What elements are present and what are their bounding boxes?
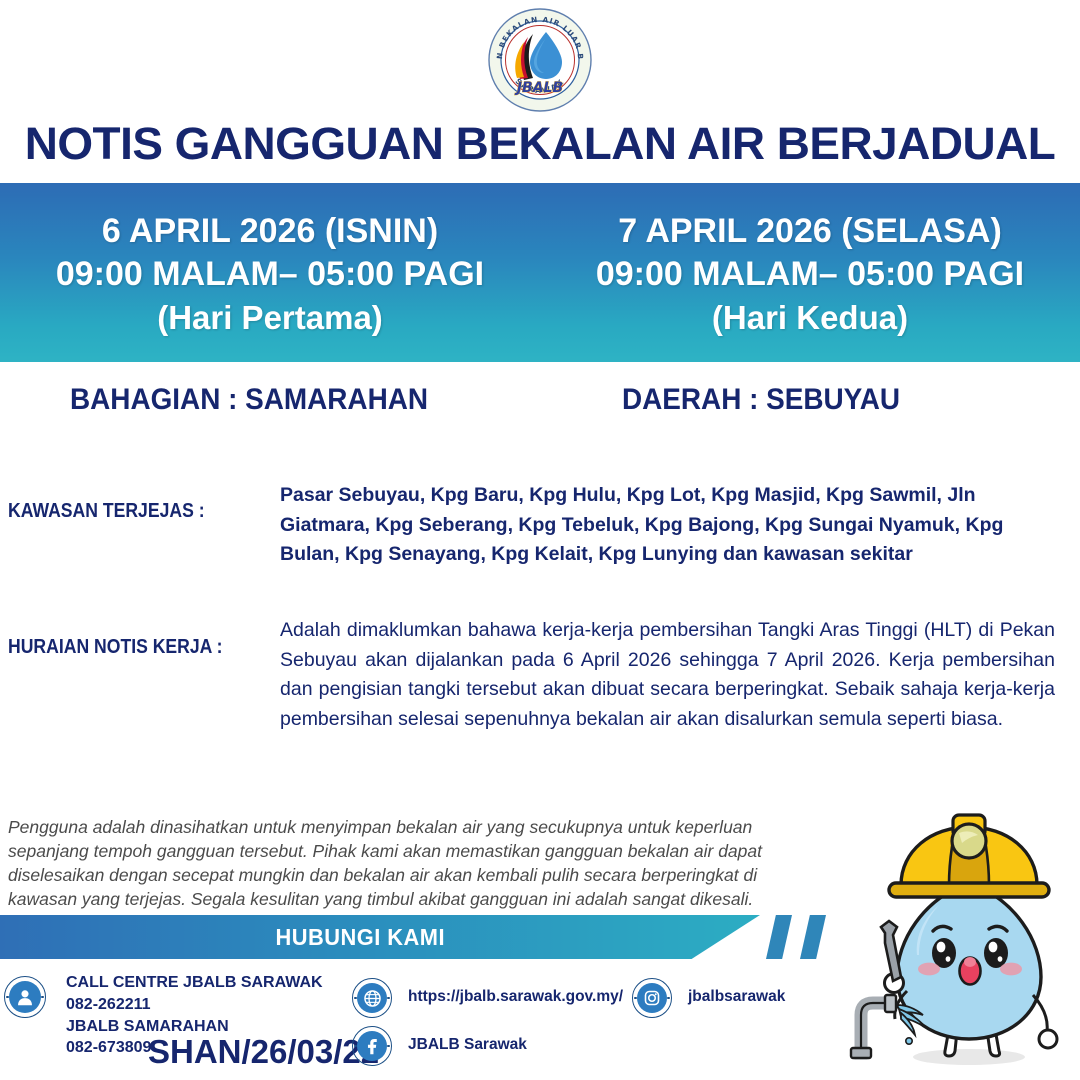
- work-description-text: Adalah dimaklumkan bahawa kerja-kerja pe…: [280, 616, 1055, 735]
- division-label: BAHAGIAN : SAMARAHAN: [70, 383, 428, 417]
- day1-date: 6 APRIL 2026 (ISNIN): [102, 210, 438, 254]
- affected-areas-text: Pasar Sebuyau, Kpg Baru, Kpg Hulu, Kpg L…: [280, 481, 1050, 570]
- logo-area: JABATAN BEKALAN AIR LUAR BANDAR SARAWAK …: [0, 4, 1080, 116]
- region-row: BAHAGIAN : SAMARAHAN DAERAH : SEBUYAU: [0, 383, 1080, 431]
- day2-time: 09:00 MALAM– 05:00 PAGI: [596, 253, 1024, 297]
- day1-time: 09:00 MALAM– 05:00 PAGI: [56, 253, 484, 297]
- instagram-handle[interactable]: jbalbsarawak: [688, 988, 785, 1006]
- jbalb-sarawak-logo: JABATAN BEKALAN AIR LUAR BANDAR SARAWAK …: [488, 8, 592, 112]
- website-url[interactable]: https://jbalb.sarawak.gov.my/: [408, 988, 623, 1006]
- page-title: NOTIS GANGGUAN BEKALAN AIR BERJADUAL: [0, 118, 1080, 170]
- svg-text:JBALB: JBALB: [514, 80, 563, 96]
- facebook-page[interactable]: JBALB Sarawak: [408, 1036, 527, 1054]
- affected-areas-label: KAWASAN TERJEJAS :: [8, 500, 205, 523]
- work-description-label: HURAIAN NOTIS KERJA :: [8, 636, 222, 659]
- schedule-day-1: 6 APRIL 2026 (ISNIN) 09:00 MALAM– 05:00 …: [0, 183, 540, 362]
- advisory-text: Pengguna adalah dinasihatkan untuk menyi…: [8, 816, 798, 912]
- water-droplet-worker-mascot: [845, 805, 1077, 1073]
- day1-sequence: (Hari Pertama): [157, 297, 383, 340]
- day2-sequence: (Hari Kedua): [712, 297, 908, 340]
- district-label: DAERAH : SEBUYAU: [622, 383, 900, 417]
- notice-poster: JABATAN BEKALAN AIR LUAR BANDAR SARAWAK …: [0, 0, 1080, 1080]
- facebook-icon: [352, 1026, 392, 1066]
- contact-bar-title: HUBUNGI KAMI: [275, 924, 445, 951]
- schedule-banner: 6 APRIL 2026 (ISNIN) 09:00 MALAM– 05:00 …: [0, 183, 1080, 362]
- instagram-icon: [632, 978, 672, 1018]
- diagonal-stripe-decoration: [766, 915, 792, 959]
- call-centre-name: CALL CENTRE JBALB SARAWAK: [66, 972, 323, 994]
- call-centre-phone[interactable]: 082-262211: [66, 994, 323, 1016]
- globe-icon: [352, 978, 392, 1018]
- person-icon: [4, 976, 46, 1018]
- schedule-day-2: 7 APRIL 2026 (SELASA) 09:00 MALAM– 05:00…: [540, 183, 1080, 362]
- reference-code: SHAN/26/03/22: [148, 1033, 379, 1071]
- diagonal-stripe-decoration: [800, 915, 826, 959]
- day2-date: 7 APRIL 2026 (SELASA): [618, 210, 1002, 254]
- contact-bar: HUBUNGI KAMI: [0, 915, 760, 959]
